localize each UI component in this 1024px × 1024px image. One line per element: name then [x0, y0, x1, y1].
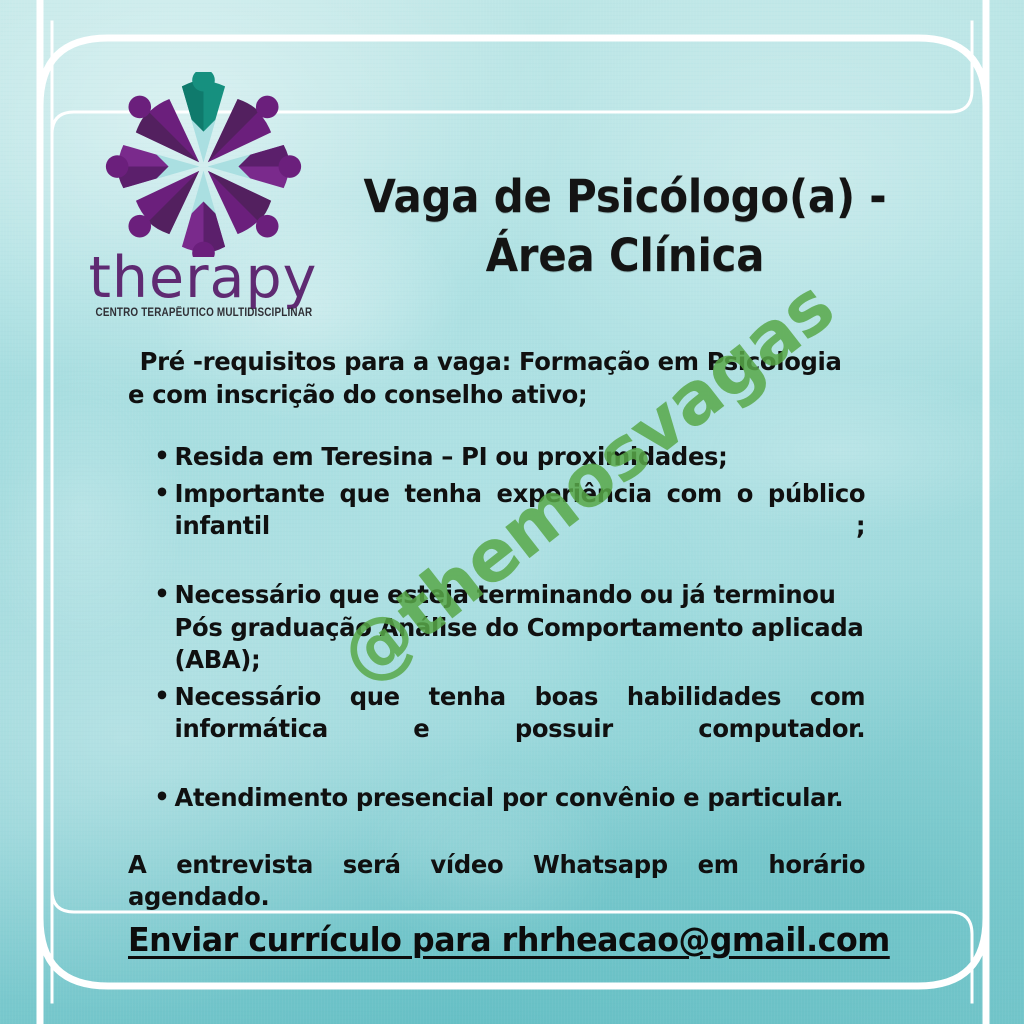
- prerequisites-intro: Pré -requisitos para a vaga: Formação em…: [128, 346, 865, 411]
- apply-cta[interactable]: Enviar currículo para rhrheacao@gmail.co…: [128, 920, 877, 959]
- brand-logo: therapy CENTRO TERAPÊUTICO MULTIDISCIPLI…: [78, 72, 328, 319]
- page-title-line-2: Área Clínica: [486, 229, 765, 282]
- job-posting-poster: therapy CENTRO TERAPÊUTICO MULTIDISCIPLI…: [0, 0, 1024, 1024]
- list-item: Atendimento presencial por convênio e pa…: [128, 782, 865, 815]
- job-description: Pré -requisitos para a vaga: Formação em…: [128, 346, 888, 946]
- logo-wordmark: therapy: [78, 251, 328, 305]
- list-item: Necessário que tenha boas habilidades co…: [128, 681, 865, 779]
- logo-tagline: CENTRO TERAPÊUTICO MULTIDISCIPLINAR: [96, 307, 311, 319]
- page-title: Vaga de Psicólogo(a) - Área Clínica: [341, 168, 908, 285]
- list-item: Necessário que esteja terminando ou já t…: [128, 579, 865, 677]
- list-item: Importante que tenha experiência com o p…: [128, 478, 865, 576]
- page-title-line-1: Vaga de Psicólogo(a) -: [364, 170, 887, 223]
- therapy-star-mandala-icon: [96, 72, 311, 257]
- requirements-list: Resida em Teresina – PI ou proximidades;…: [128, 441, 888, 815]
- list-item: Resida em Teresina – PI ou proximidades;: [128, 441, 865, 474]
